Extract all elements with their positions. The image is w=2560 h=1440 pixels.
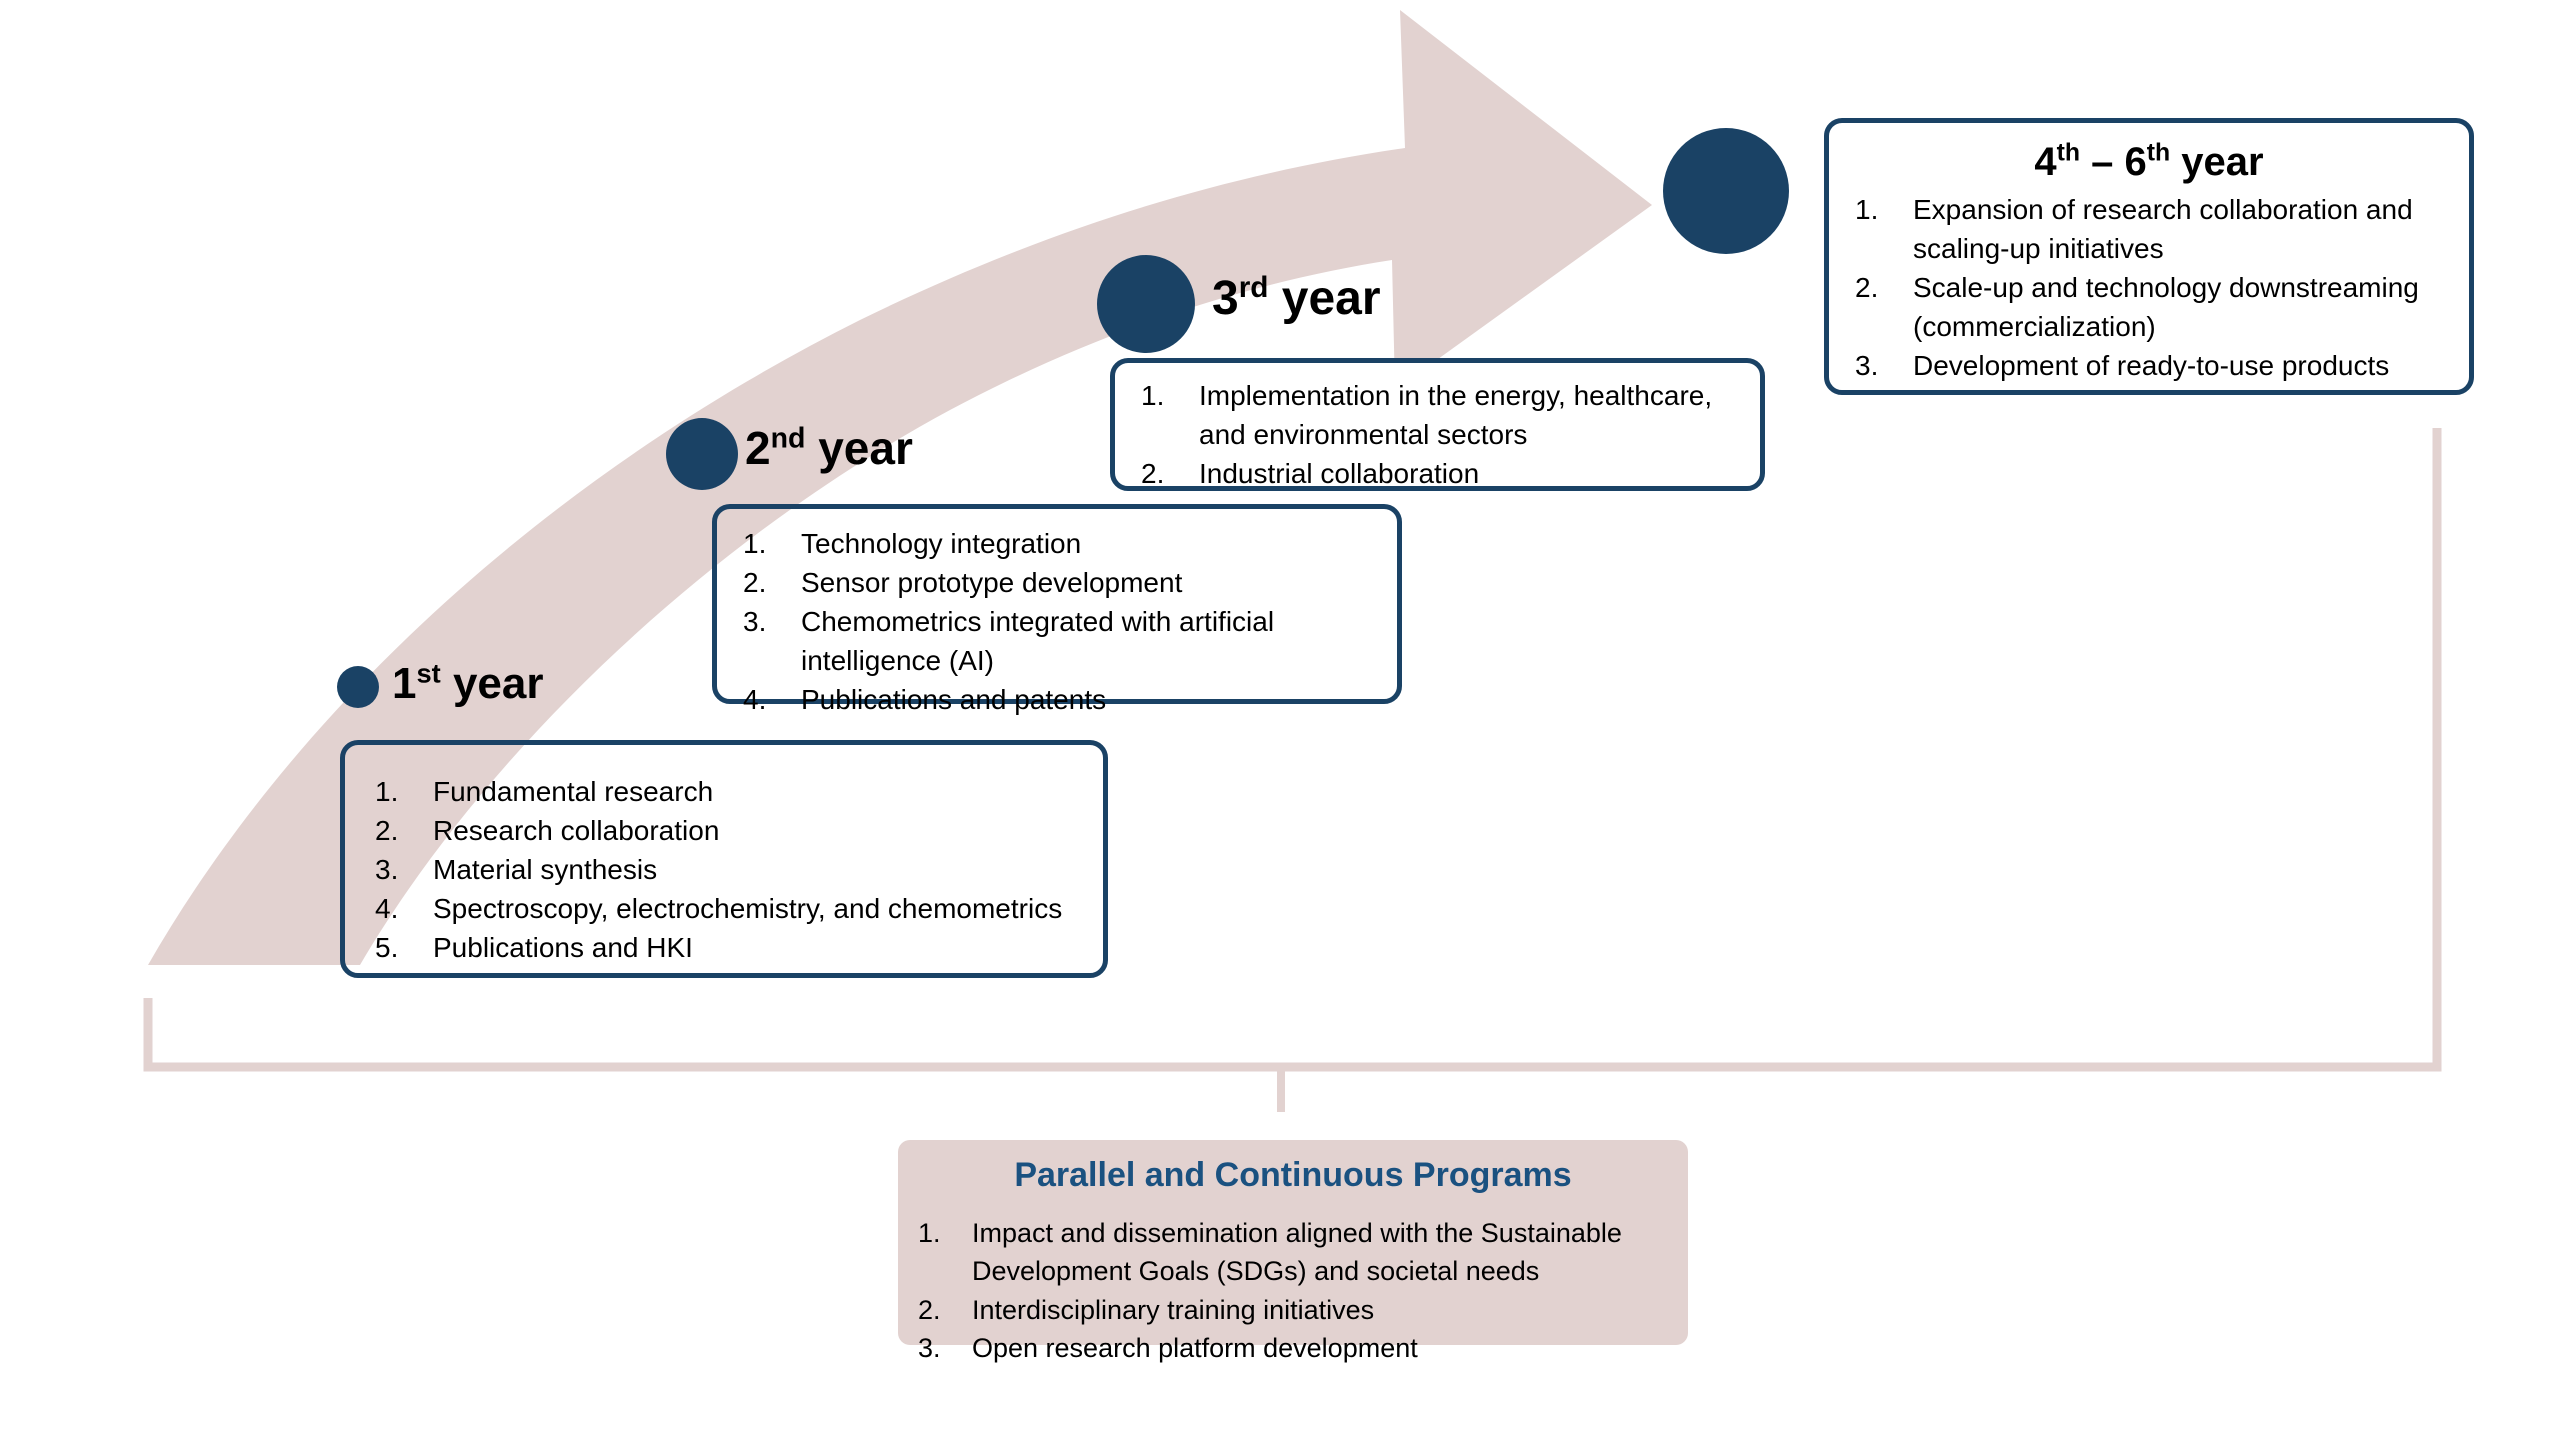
year-4-6-label-ordinal-start: th (2057, 140, 2080, 167)
year-4-6-label-dash: – 6 (2080, 140, 2147, 184)
list-item: Sensor prototype development (739, 564, 1375, 603)
year-3-label: 3rd year (1212, 275, 1381, 323)
list-item: Development of ready-to-use products (1851, 347, 2447, 386)
year-4-6-item-list: Expansion of research collaboration and … (1851, 191, 2447, 386)
milestone-dot-year-2 (666, 418, 738, 490)
list-item: Interdisciplinary training initiatives (914, 1291, 1688, 1329)
list-item: Publications and HKI (371, 929, 1077, 968)
year-2-item-list: Technology integration Sensor prototype … (739, 525, 1375, 720)
year-1-item-list: Fundamental research Research collaborat… (371, 773, 1077, 968)
parallel-programs-title: Parallel and Continuous Programs (898, 1140, 1688, 1192)
list-item: Fundamental research (371, 773, 1077, 812)
list-item: Publications and patents (739, 681, 1375, 720)
year-2-label-number: 2 (745, 422, 771, 474)
year-1-label-ordinal: st (416, 657, 440, 688)
year-3-label-word: year (1268, 272, 1380, 325)
parallel-programs-item-list: Impact and dissemination aligned with th… (898, 1214, 1688, 1367)
roadmap-diagram: 1st year Fundamental research Research c… (0, 0, 2560, 1440)
list-item: Expansion of research collaboration and … (1851, 191, 2447, 269)
year-2-label-ordinal: nd (771, 423, 806, 455)
year-4-6-label: 4th – 6th year (1851, 141, 2447, 183)
year-2-label-word: year (805, 422, 912, 474)
year-4-6-label-ordinal-end: th (2147, 140, 2170, 167)
milestone-card-year-3[interactable]: Implementation in the energy, healthcare… (1110, 358, 1765, 491)
milestone-dot-year-1 (337, 666, 379, 708)
milestone-card-year-4-6[interactable]: 4th – 6th year Expansion of research col… (1824, 118, 2474, 395)
list-item: Impact and dissemination aligned with th… (914, 1214, 1672, 1291)
year-3-item-list: Implementation in the energy, healthcare… (1137, 377, 1738, 494)
year-4-6-label-number-start: 4 (2034, 140, 2056, 184)
year-3-label-number: 3 (1212, 272, 1239, 325)
milestone-card-year-1[interactable]: Fundamental research Research collaborat… (340, 740, 1108, 978)
list-item: Technology integration (739, 525, 1375, 564)
list-item: Research collaboration (371, 812, 1077, 851)
list-item: Implementation in the energy, healthcare… (1137, 377, 1738, 455)
year-2-label: 2nd year (745, 425, 913, 471)
list-item: Industrial collaboration (1137, 455, 1738, 494)
year-1-label-number: 1 (392, 659, 416, 708)
year-3-label-ordinal: rd (1239, 271, 1269, 304)
parallel-programs-panel[interactable]: Parallel and Continuous Programs Impact … (898, 1140, 1688, 1345)
milestone-dot-year-4-6 (1663, 128, 1789, 254)
list-item: Scale-up and technology downstreaming (c… (1851, 269, 2447, 347)
milestone-dot-year-3 (1097, 255, 1195, 353)
list-item: Open research platform development (914, 1329, 1688, 1367)
list-item: Chemometrics integrated with artificial … (739, 603, 1375, 681)
list-item: Material synthesis (371, 851, 1077, 890)
year-4-6-label-word: year (2170, 140, 2263, 184)
year-1-label-word: year (441, 659, 544, 708)
list-item: Spectroscopy, electrochemistry, and chem… (371, 890, 1077, 929)
year-1-label: 1st year (392, 662, 544, 706)
milestone-card-year-2[interactable]: Technology integration Sensor prototype … (712, 504, 1402, 704)
